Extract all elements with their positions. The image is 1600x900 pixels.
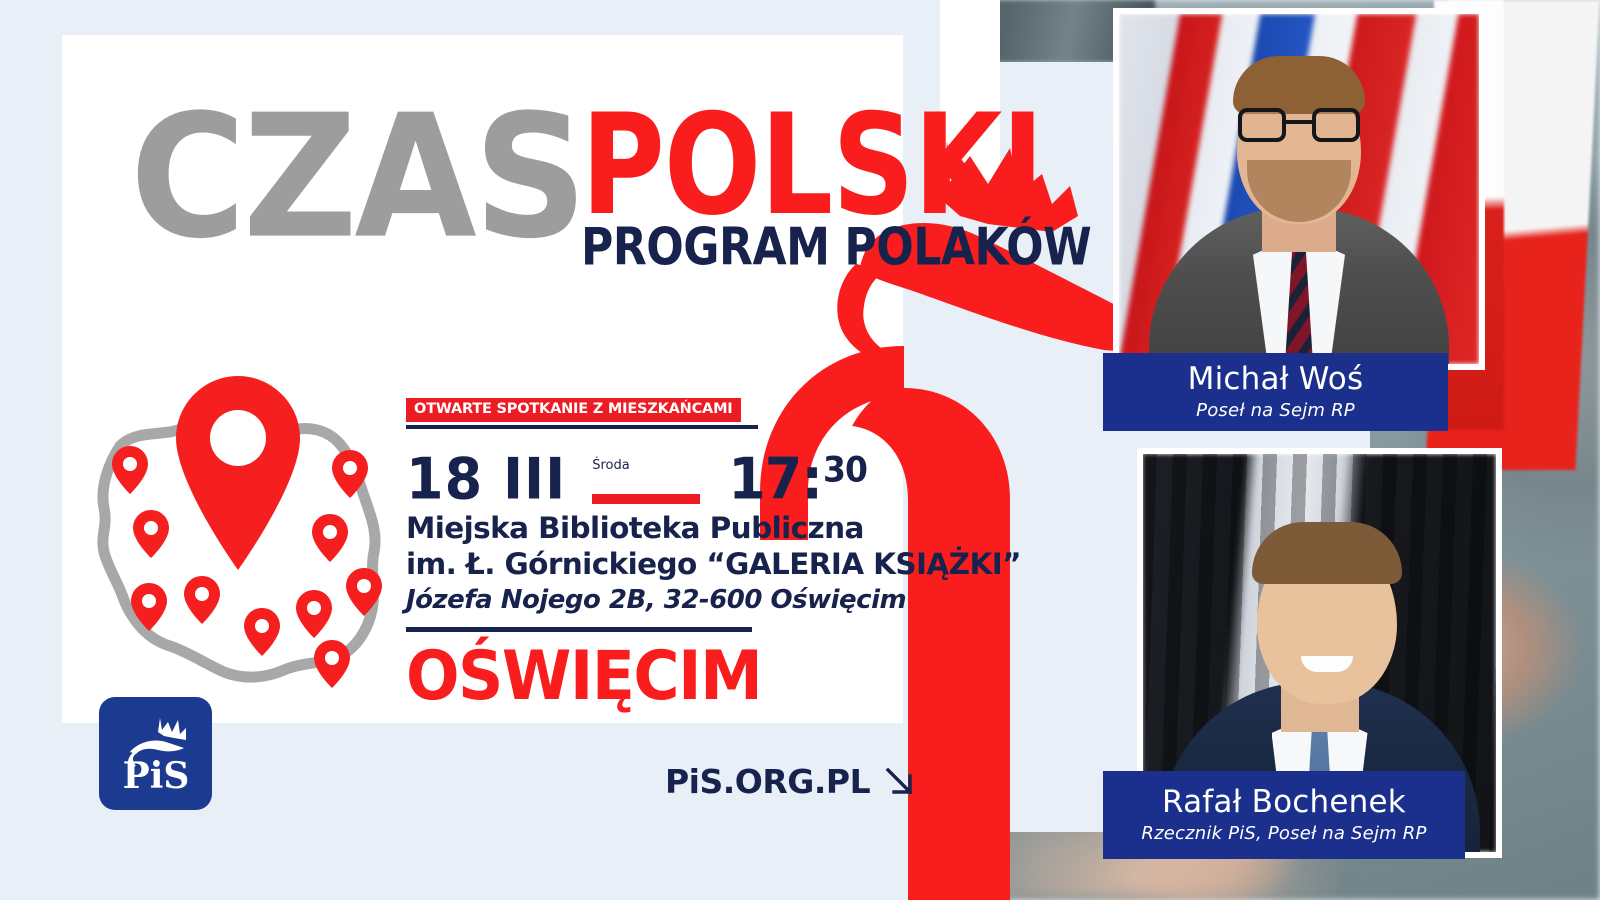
event-datetime: 18 III Środa 17: 30 [406,446,876,508]
crown-shape [158,718,186,740]
nameplate-michal-wos: Michał Woś Poseł na Sejm RP [1103,353,1448,431]
arrow-down-right-icon [882,764,918,800]
headline-word-polski: POLSKI [581,108,1086,222]
event-date: 18 III [406,450,566,507]
website-link[interactable]: PiS.ORG.PL [665,762,918,801]
photo-frame [1119,14,1479,364]
website-url: PiS.ORG.PL [665,762,870,801]
event-address: Józefa Nojego 2B, 32-600 Oświęcim [406,584,876,616]
page-title: CZAS POLSKI PROGRAM POLAKÓW [130,108,1102,264]
event-city: OŚWIĘCIM [406,642,876,710]
pis-logo[interactable]: PiS [99,697,212,810]
glasses-icon [1238,108,1360,142]
separator-rule [406,627,752,632]
headline-subtitle: PROGRAM POLAKÓW [581,227,1091,269]
event-banner: OTWARTE SPOTKANIE Z MIESZKAŃCAMI [406,398,741,422]
venue-line-1: Miejska Biblioteka Publiczna [406,510,876,546]
event-details: OTWARTE SPOTKANIE Z MIESZKAŃCAMI 18 III … [406,398,876,705]
banner-rule [406,425,758,429]
red-dash [592,494,700,504]
hair-shape [1252,522,1402,584]
headline-word-czas: CZAS [130,108,584,248]
event-weekday: Środa [592,458,629,473]
poland-map-with-pins-icon [78,368,398,690]
pis-logo-text: PiS [122,755,189,797]
speaker-role: Poseł na Sejm RP [1196,400,1355,421]
portrait-michal-wos [1113,8,1485,370]
eagle-head-shape [130,740,184,754]
venue-line-2: im. Ł. Górnickiego “GALERIA KSIĄŻKI” [406,546,876,582]
speaker-name: Michał Woś [1188,363,1364,396]
nameplate-rafal-bochenek: Rafał Bochenek Rzecznik PiS, Poseł na Se… [1103,771,1465,859]
smile-shape [1301,656,1353,672]
hair-shape [1233,56,1365,114]
speaker-role: Rzecznik PiS, Poseł na Sejm RP [1141,823,1426,844]
event-time-minutes: 30 [823,451,867,486]
campaign-poster: CZAS POLSKI PROGRAM POLAKÓW [0,0,1600,900]
speaker-name: Rafał Bochenek [1162,786,1406,819]
event-time: 17: 30 [728,450,866,507]
weekday-group: Środa [584,450,724,508]
event-time-hours: 17: [728,450,822,507]
